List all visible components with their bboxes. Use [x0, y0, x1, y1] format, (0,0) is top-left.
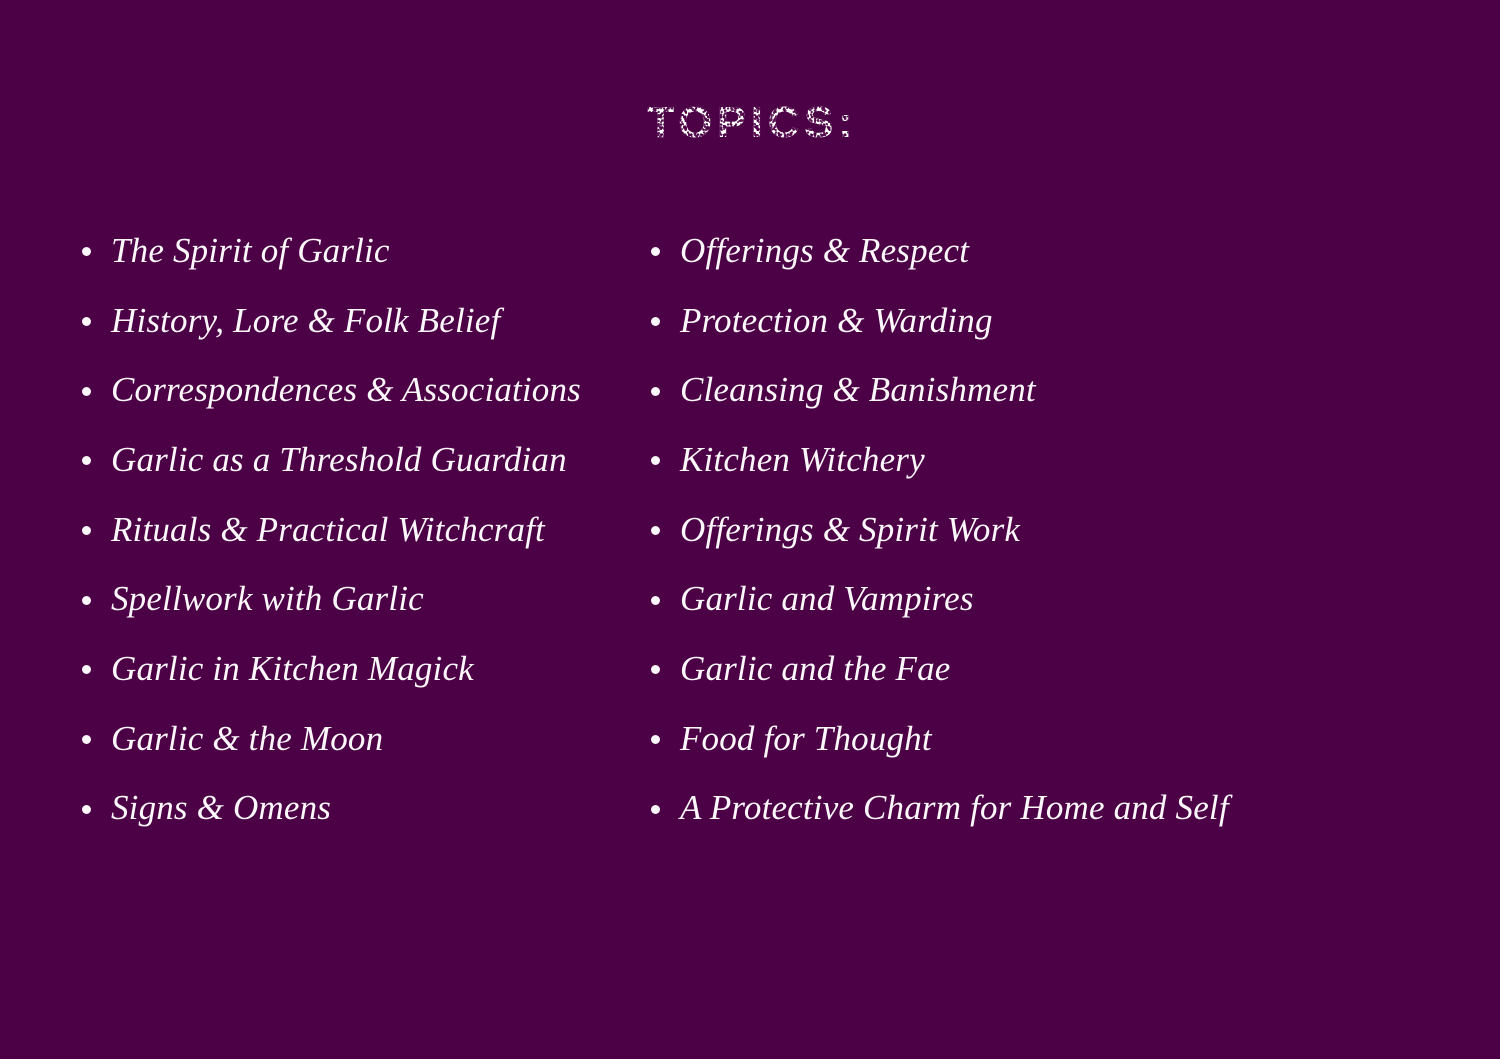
topic-item-label: Offerings & Respect: [680, 231, 969, 271]
topic-item-label: Offerings & Spirit Work: [680, 510, 1020, 550]
topic-list-item: History, Lore & Folk Belief: [82, 286, 642, 356]
topic-list-item: A Protective Charm for Home and Self: [651, 774, 1418, 844]
topic-item-label: Garlic and Vampires: [680, 579, 974, 619]
topics-slide: TOPICS: The Spirit of GarlicHistory, Lor…: [0, 0, 1500, 1059]
topic-item-label: A Protective Charm for Home and Self: [680, 788, 1229, 828]
bullet-dot-icon: [651, 526, 660, 535]
topic-item-label: Garlic in Kitchen Magick: [111, 649, 474, 689]
bullet-dot-icon: [82, 247, 91, 256]
topic-item-label: The Spirit of Garlic: [111, 231, 390, 271]
topic-item-label: Cleansing & Banishment: [680, 370, 1036, 410]
topic-list-item: Garlic in Kitchen Magick: [82, 634, 642, 704]
topics-left-column: The Spirit of GarlicHistory, Lore & Folk…: [0, 216, 642, 843]
bullet-dot-icon: [651, 805, 660, 814]
page-title: TOPICS:: [643, 98, 858, 148]
topic-list-item: Garlic & the Moon: [82, 704, 642, 774]
bullet-dot-icon: [82, 456, 91, 465]
topic-list-item: Offerings & Respect: [651, 216, 1418, 286]
bullet-dot-icon: [82, 317, 91, 326]
topic-list-item: Offerings & Spirit Work: [651, 495, 1418, 565]
bullet-dot-icon: [651, 456, 660, 465]
topic-list-item: Protection & Warding: [651, 286, 1418, 356]
bullet-dot-icon: [651, 387, 660, 396]
bullet-dot-icon: [82, 665, 91, 674]
bullet-dot-icon: [651, 596, 660, 605]
bullet-dot-icon: [82, 596, 91, 605]
bullet-dot-icon: [82, 735, 91, 744]
bullet-dot-icon: [82, 526, 91, 535]
bullet-dot-icon: [82, 805, 91, 814]
topic-item-label: Spellwork with Garlic: [111, 579, 424, 619]
topic-item-label: Signs & Omens: [111, 788, 331, 828]
topic-item-label: Protection & Warding: [680, 301, 993, 341]
topic-list-item: Spellwork with Garlic: [82, 564, 642, 634]
topics-columns: The Spirit of GarlicHistory, Lore & Folk…: [0, 216, 1500, 843]
bullet-dot-icon: [82, 387, 91, 396]
topic-item-label: Garlic as a Threshold Guardian: [111, 440, 567, 480]
topic-item-label: Garlic & the Moon: [111, 719, 383, 759]
bullet-dot-icon: [651, 665, 660, 674]
topic-item-label: Correspondences & Associations: [111, 370, 581, 410]
topic-item-label: Kitchen Witchery: [680, 440, 925, 480]
title-area: TOPICS:: [0, 98, 1500, 148]
topic-item-label: History, Lore & Folk Belief: [111, 301, 500, 341]
topic-list-item: Garlic and the Fae: [651, 634, 1418, 704]
topic-list-item: Garlic as a Threshold Guardian: [82, 425, 642, 495]
bullet-dot-icon: [651, 317, 660, 326]
topic-item-label: Food for Thought: [680, 719, 932, 759]
topic-list-item: Food for Thought: [651, 704, 1418, 774]
topic-list-item: Correspondences & Associations: [82, 355, 642, 425]
bullet-dot-icon: [651, 247, 660, 256]
topic-list-item: Kitchen Witchery: [651, 425, 1418, 495]
topics-right-column: Offerings & RespectProtection & WardingC…: [642, 216, 1418, 843]
topic-item-label: Garlic and the Fae: [680, 649, 950, 689]
topic-list-item: Rituals & Practical Witchcraft: [82, 495, 642, 565]
topic-list-item: Signs & Omens: [82, 774, 642, 844]
topic-list-item: Cleansing & Banishment: [651, 355, 1418, 425]
topic-list-item: Garlic and Vampires: [651, 564, 1418, 634]
topic-item-label: Rituals & Practical Witchcraft: [111, 510, 545, 550]
topic-list-item: The Spirit of Garlic: [82, 216, 642, 286]
bullet-dot-icon: [651, 735, 660, 744]
